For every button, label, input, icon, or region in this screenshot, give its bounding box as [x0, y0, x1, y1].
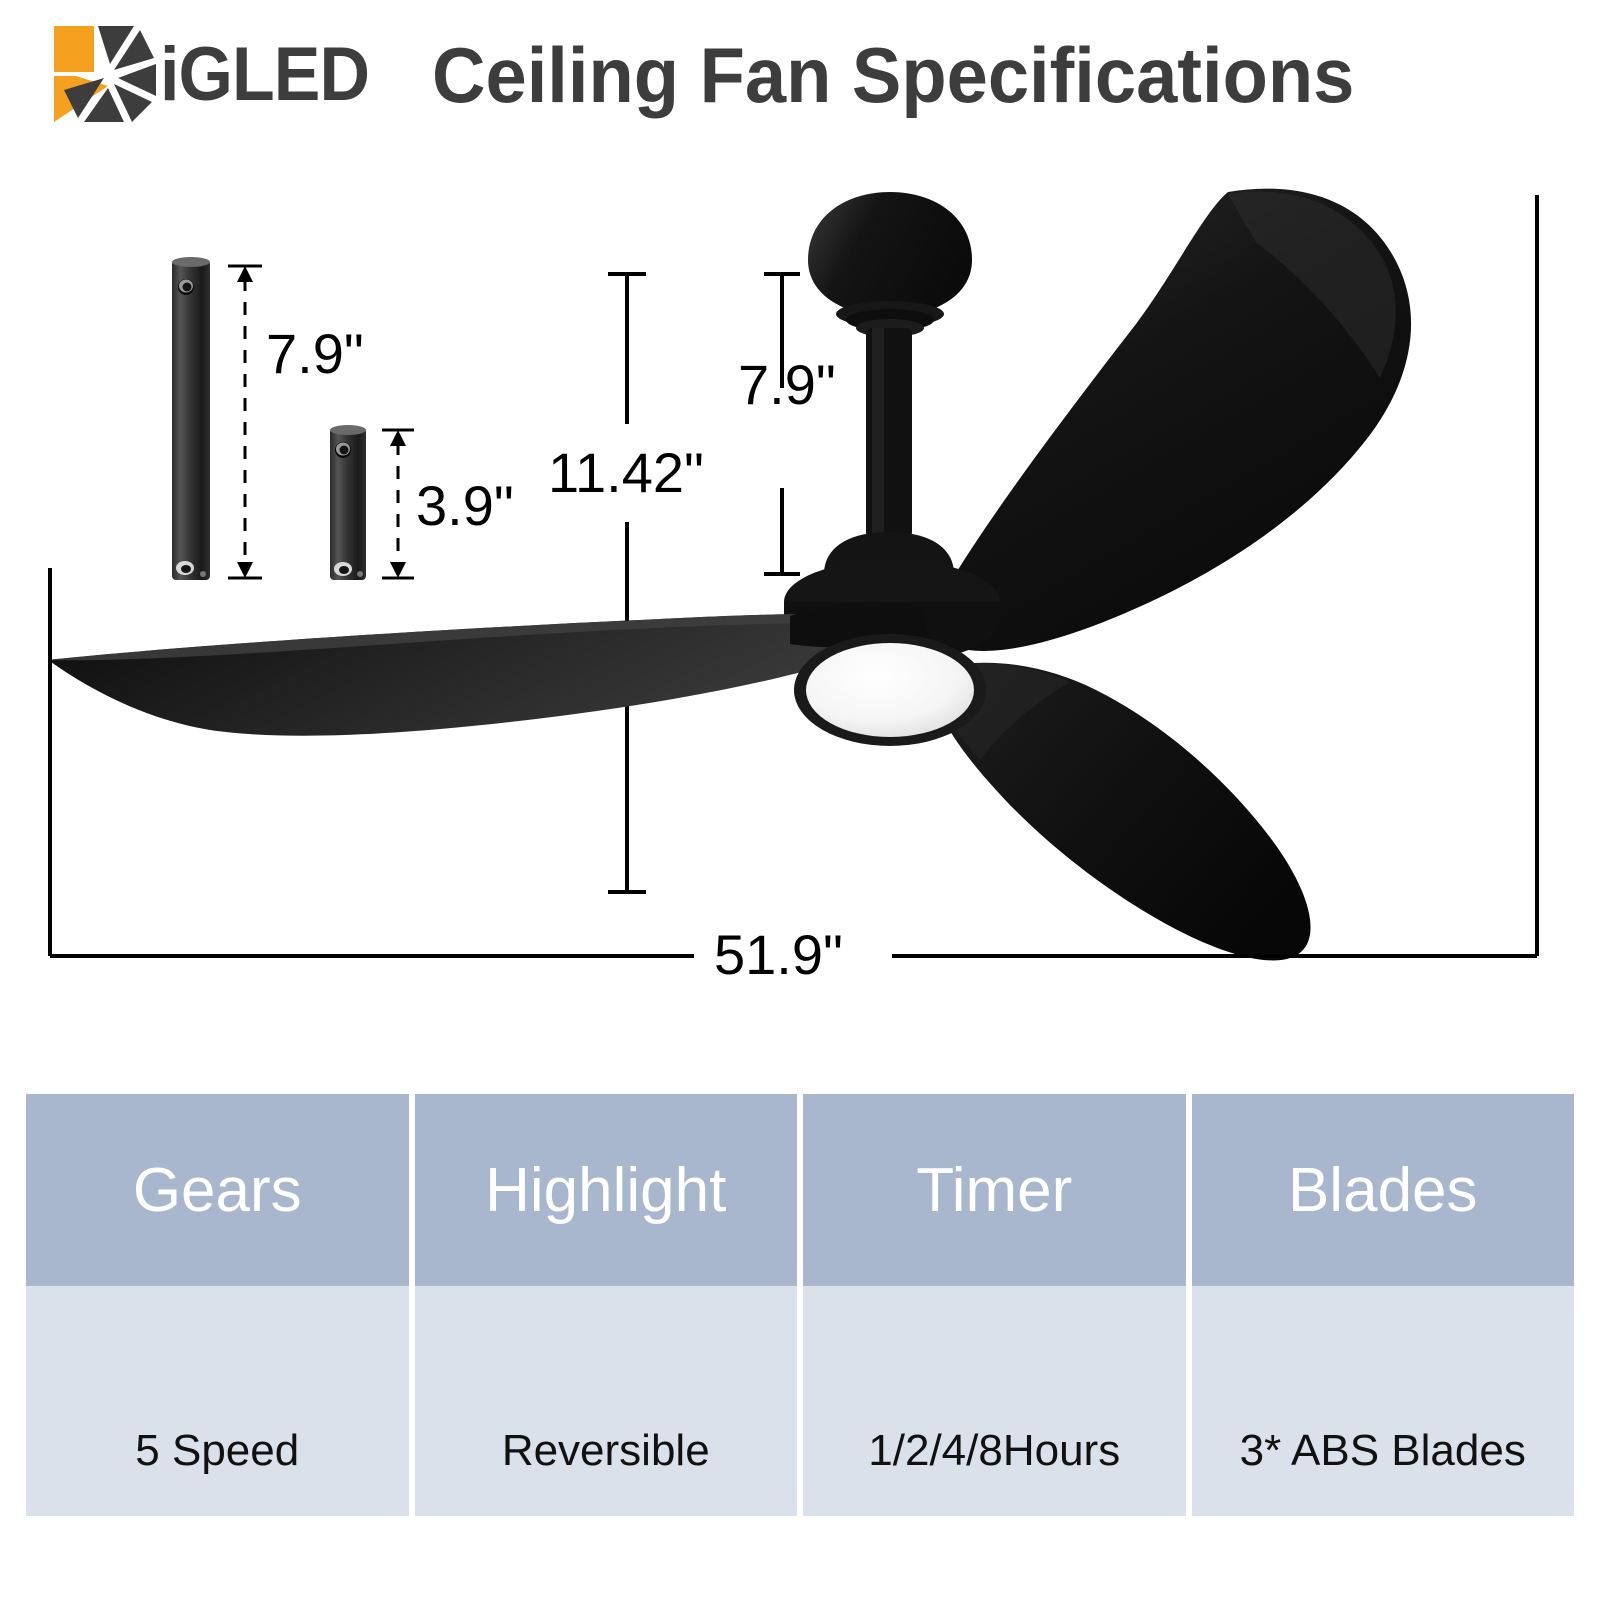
page-title: Ceiling Fan Specifications	[432, 30, 1354, 120]
fan-canopy	[808, 192, 972, 314]
downrod-long-icon	[172, 257, 210, 580]
ceiling-fan-illustration	[48, 189, 1411, 961]
dimension-label-downrod-short: 3.9"	[416, 474, 514, 537]
aperture-logo-icon	[48, 24, 158, 124]
dimension-label-downrod-long: 7.9"	[266, 322, 364, 385]
page-header: iGLED Ceiling Fan Specifications	[0, 0, 1600, 150]
dimension-canopy-to-motor	[764, 274, 800, 574]
cell-gears-value: 5 Speed	[26, 1286, 409, 1516]
cell-timer-value: 1/2/4/8Hours	[803, 1286, 1186, 1516]
cell-blades-value: 3* ABS Blades	[1192, 1286, 1575, 1516]
column-header-highlight: Highlight	[415, 1094, 798, 1286]
downrod-short-icon	[330, 425, 366, 580]
dimension-label-blade-span: 51.9"	[714, 923, 843, 986]
dimension-fan-total-height	[608, 274, 646, 892]
cell-highlight-value: Reversible	[415, 1286, 798, 1516]
dimension-label-fan-total-height: 11.42"	[548, 441, 704, 504]
light-kit-lens	[806, 643, 974, 737]
column-header-gears: Gears	[26, 1094, 409, 1286]
table-row: 5 Speed Reversible 1/2/4/8Hours 3* ABS B…	[26, 1286, 1574, 1516]
dimension-label-canopy-to-motor: 7.9"	[738, 353, 836, 416]
specifications-table: Gears Highlight Timer Blades 5 Speed Rev…	[20, 1094, 1580, 1516]
dimension-downrod-short	[382, 430, 414, 578]
column-header-blades: Blades	[1192, 1094, 1575, 1286]
dimension-downrod-long	[228, 266, 262, 578]
column-header-timer: Timer	[803, 1094, 1186, 1286]
table-header-row: Gears Highlight Timer Blades	[26, 1094, 1574, 1286]
brand-name: iGLED	[160, 34, 369, 116]
product-dimension-diagram: 7.9" 3.9" 11.42" 7.9"	[0, 150, 1600, 1060]
